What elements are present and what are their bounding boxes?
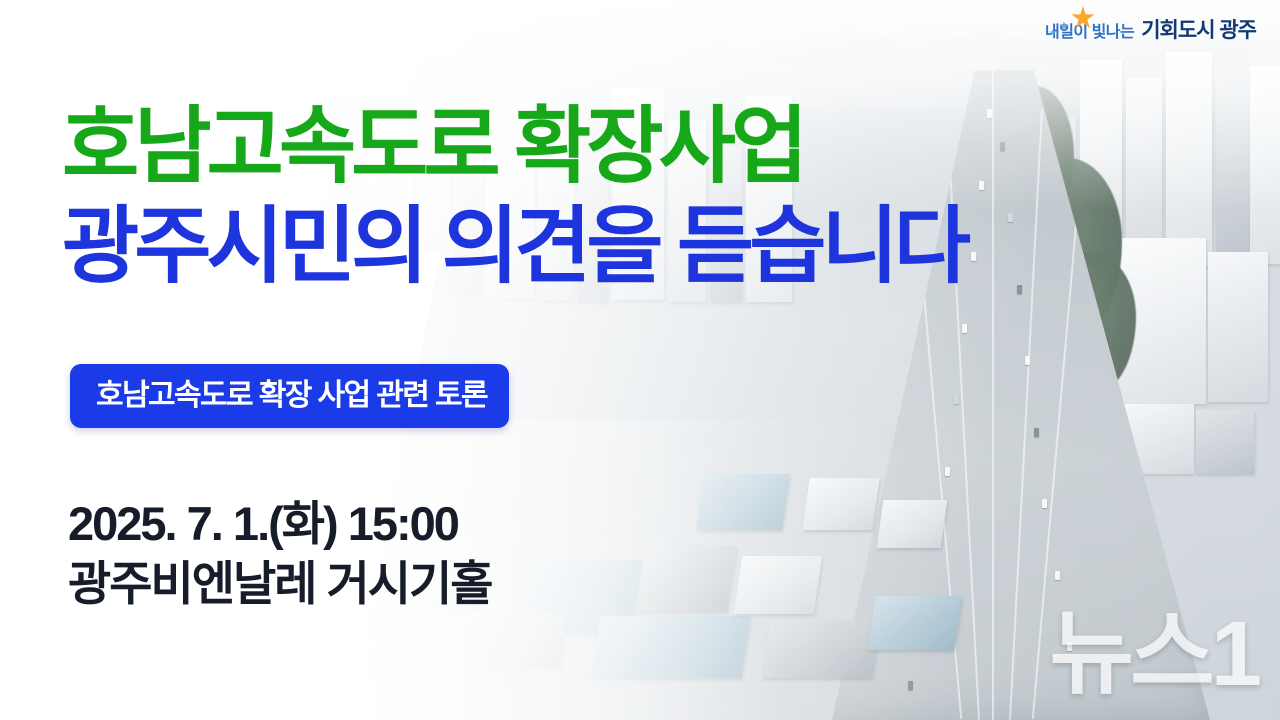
logo-slogan-text: 내일이 빛나는 [1045,24,1134,41]
headline-line-1: 호남고속도로 확장사업 [62,104,966,190]
headline-block: 호남고속도로 확장사업 광주시민의 의견을 듣습니다 [62,104,966,289]
topic-badge-label: 호남고속도로 확장 사업 관련 토론 [96,381,487,411]
logo-slogan: 내일이 빛나는 [1043,25,1134,41]
gwangju-city-logo: 내일이 빛나는 기회도시 광주 [1043,20,1256,41]
topic-badge: 호남고속도로 확장 사업 관련 토론 [70,364,509,428]
event-date: 2025. 7. 1.(화) 15:00 [68,497,491,551]
logo-brand-text: 기회도시 광주 [1141,20,1256,41]
event-details: 2025. 7. 1.(화) 15:00 광주비엔날레 거시기홀 [68,497,491,610]
event-venue: 광주비엔날레 거시기홀 [68,557,491,611]
poster-canvas: 내일이 빛나는 기회도시 광주 호남고속도로 확장사업 광주시민의 의견을 듣습… [0,0,1280,720]
headline-line-2: 광주시민의 의견을 듣습니다 [62,204,966,290]
